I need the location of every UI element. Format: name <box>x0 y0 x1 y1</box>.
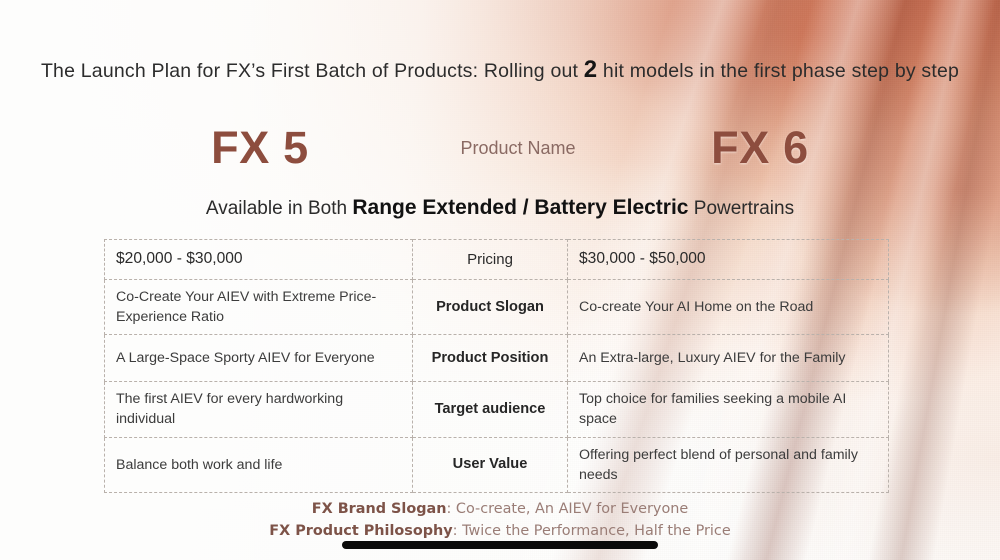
product-name-label: Product Name <box>412 118 624 178</box>
cell-fx5-value: The first AIEV for every hardworking ind… <box>105 382 413 437</box>
footer-brand-slogan: FX Brand Slogan: Co-create, An AIEV for … <box>0 498 1000 520</box>
table-row: $20,000 - $30,000 Pricing $30,000 - $50,… <box>105 240 889 280</box>
product-name-band: FX 5 Product Name FX 6 <box>0 118 1000 182</box>
footer-philosophy-label: FX Product Philosophy <box>269 523 452 539</box>
slide-footer: FX Brand Slogan: Co-create, An AIEV for … <box>0 498 1000 542</box>
cell-fx6-value: Top choice for families seeking a mobile… <box>568 382 889 437</box>
product-model-fx5: FX 5 <box>160 118 360 178</box>
presentation-slide: The Launch Plan for FX’s First Batch of … <box>0 0 1000 560</box>
footer-brand-slogan-value: : Co-create, An AIEV for Everyone <box>446 501 688 517</box>
home-indicator-bar <box>342 541 658 549</box>
slide-title-model-count: 2 <box>584 56 598 83</box>
table-row: Balance both work and life User Value Of… <box>105 437 889 492</box>
cell-attribute-label: Pricing <box>413 240 568 280</box>
cell-fx6-value: Offering perfect blend of personal and f… <box>568 437 889 492</box>
footer-philosophy-value: : Twice the Performance, Half the Price <box>453 523 731 539</box>
cell-fx6-value: An Extra-large, Luxury AIEV for the Fami… <box>568 335 889 382</box>
slide-title: The Launch Plan for FX’s First Batch of … <box>0 56 1000 84</box>
powertrain-prefix: Available in Both <box>206 198 352 219</box>
table-row: A Large-Space Sporty AIEV for Everyone P… <box>105 335 889 382</box>
cell-attribute-label: Target audience <box>413 382 568 437</box>
footer-product-philosophy: FX Product Philosophy: Twice the Perform… <box>0 520 1000 542</box>
footer-brand-slogan-label: FX Brand Slogan <box>312 501 447 517</box>
cell-fx5-value: A Large-Space Sporty AIEV for Everyone <box>105 335 413 382</box>
cell-fx6-value: Co-create Your AI Home on the Road <box>568 280 889 335</box>
powertrain-suffix: Powertrains <box>689 198 795 219</box>
product-comparison-table: $20,000 - $30,000 Pricing $30,000 - $50,… <box>104 239 889 493</box>
cell-fx5-value: $20,000 - $30,000 <box>105 240 413 280</box>
table-row: The first AIEV for every hardworking ind… <box>105 382 889 437</box>
cell-fx5-value: Balance both work and life <box>105 437 413 492</box>
cell-attribute-label: User Value <box>413 437 568 492</box>
cell-fx6-value: $30,000 - $50,000 <box>568 240 889 280</box>
cell-fx5-value: Co-Create Your AIEV with Extreme Price-E… <box>105 280 413 335</box>
product-model-fx6: FX 6 <box>650 118 870 178</box>
table-row: Co-Create Your AIEV with Extreme Price-E… <box>105 280 889 335</box>
slide-title-prefix: The Launch Plan for FX’s First Batch of … <box>41 60 584 82</box>
slide-title-suffix: hit models in the first phase step by st… <box>597 60 959 82</box>
powertrain-types: Range Extended / Battery Electric <box>352 196 688 219</box>
cell-attribute-label: Product Slogan <box>413 280 568 335</box>
powertrain-availability-line: Available in Both Range Extended / Batte… <box>0 196 1000 220</box>
cell-attribute-label: Product Position <box>413 335 568 382</box>
